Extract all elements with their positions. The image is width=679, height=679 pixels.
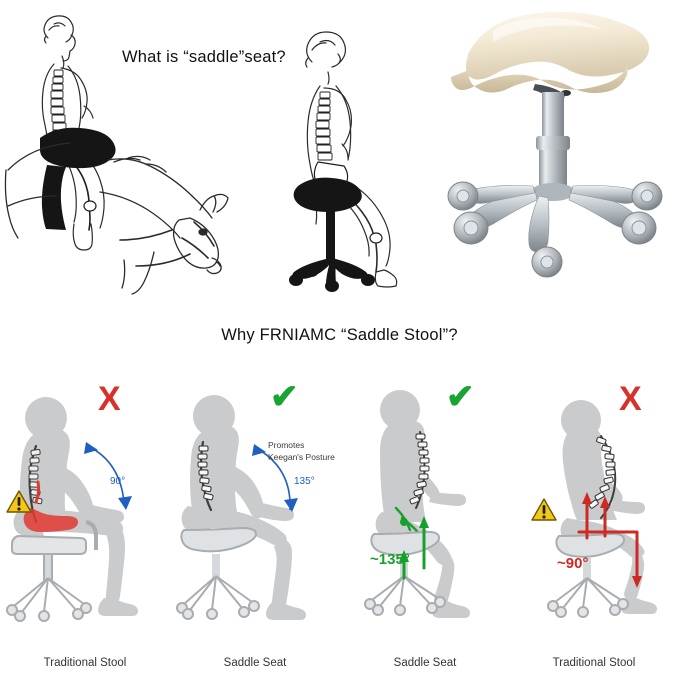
top-section: What is “saddle”seat? bbox=[0, 0, 679, 305]
angle-label-3: ~135° bbox=[370, 551, 410, 568]
comparison-section: X 90° Traditional Stool bbox=[0, 372, 679, 679]
figure-saddle-seat-left: ✔ Promotes Keegan's Posture 135° Saddle … bbox=[170, 372, 340, 679]
keegan-note-line1: Promotes bbox=[268, 440, 304, 451]
figure-saddle-seat-right: ✔ ~135° Saddle Seat bbox=[340, 372, 510, 679]
figure-caption-3: Saddle Seat bbox=[340, 657, 510, 669]
horse-rider-illustration bbox=[4, 10, 246, 295]
person-on-saddle-stool-illustration bbox=[250, 10, 435, 295]
check-mark-3: ✔ bbox=[446, 380, 475, 414]
cross-mark-1: X bbox=[98, 382, 121, 416]
keegan-note-line2: Keegan's Posture bbox=[268, 452, 335, 463]
figure-traditional-stool-left: X 90° Traditional Stool bbox=[0, 372, 170, 679]
angle-label-1: 90° bbox=[110, 476, 125, 487]
middle-headline: Why FRNIAMC “Saddle Stool”? bbox=[0, 326, 679, 345]
check-mark-2: ✔ bbox=[270, 380, 299, 414]
figure-caption-2: Saddle Seat bbox=[170, 657, 340, 669]
figure-caption-1: Traditional Stool bbox=[0, 657, 170, 669]
product-infographic: What is “saddle”seat? bbox=[0, 0, 679, 679]
warning-icon-2 bbox=[531, 498, 557, 522]
figure-traditional-stool-right: X ~90° Traditional Stool bbox=[509, 372, 679, 679]
warning-icon-1 bbox=[6, 490, 32, 514]
cross-mark-4: X bbox=[619, 382, 642, 416]
saddle-stool-product-photo bbox=[435, 0, 679, 300]
angle-label-4: ~90° bbox=[557, 555, 588, 572]
figure-caption-4: Traditional Stool bbox=[509, 657, 679, 669]
angle-label-2: 135° bbox=[294, 476, 315, 487]
